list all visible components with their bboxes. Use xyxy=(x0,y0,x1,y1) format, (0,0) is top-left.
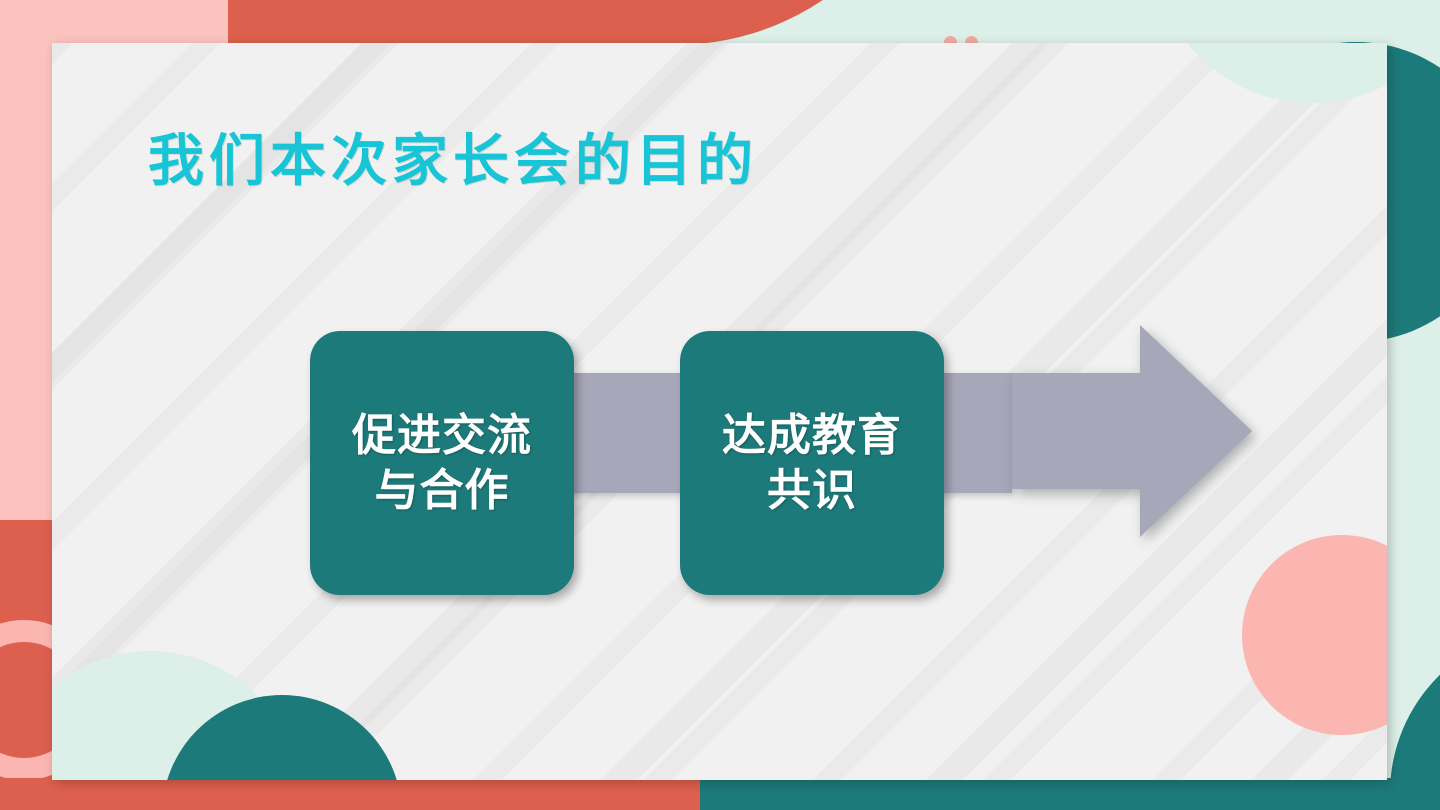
right-arrow-icon[interactable] xyxy=(1012,325,1252,537)
teal-band-bottom-right xyxy=(700,778,1440,810)
slide-title: 我们本次家长会的目的 xyxy=(148,131,758,193)
content-card: 我们本次家长会的目的 促进交流 与合作 达成教育 共识 xyxy=(52,43,1387,780)
process-node-2-label: 达成教育 共识 xyxy=(722,408,902,518)
coral-band-bottom xyxy=(0,778,710,810)
process-node-1[interactable]: 促进交流 与合作 xyxy=(310,331,574,595)
slide-canvas: 我们本次家长会的目的 促进交流 与合作 达成教育 共识 xyxy=(0,0,1440,810)
process-node-2[interactable]: 达成教育 共识 xyxy=(680,331,944,595)
process-node-1-label: 促进交流 与合作 xyxy=(352,408,532,518)
